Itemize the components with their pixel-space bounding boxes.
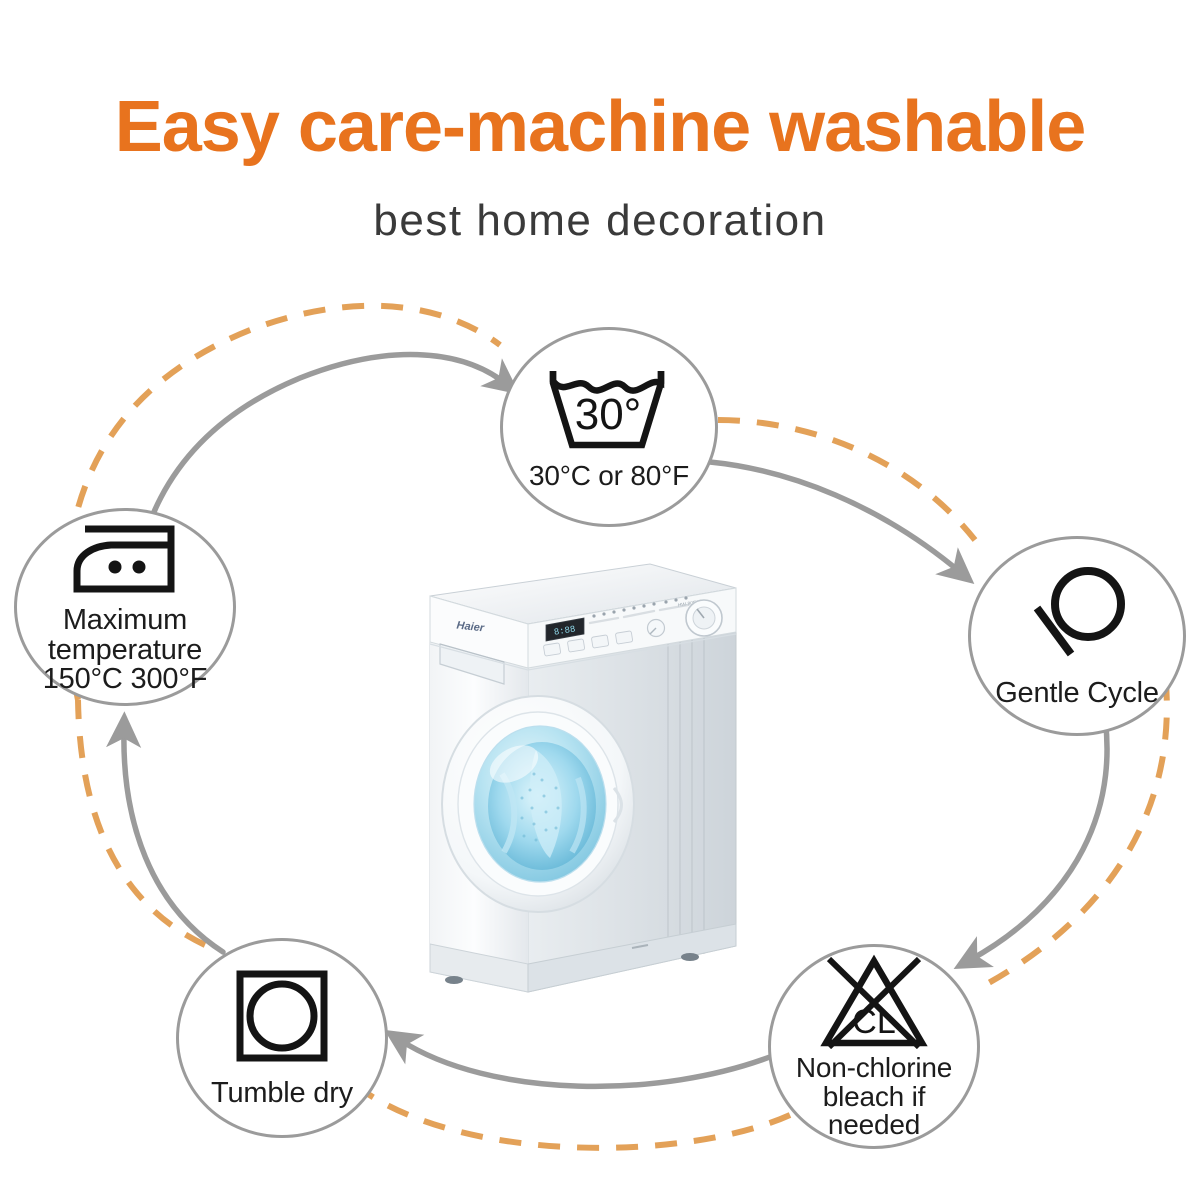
care-node-caption: Tumble dry	[211, 1079, 353, 1109]
washer-foot-left	[445, 976, 463, 984]
wash-tub-temperature-text: 30°	[575, 390, 642, 439]
care-node-iron-temperature[interactable]: Maximum temperature 150°C 300°F	[14, 508, 236, 706]
wash-tub-icon: 30°	[543, 363, 675, 460]
care-node-tumble-dry[interactable]: Tumble dry	[176, 938, 388, 1138]
iron-two-dots-icon	[59, 519, 191, 604]
gentle-cycle-icon	[1021, 564, 1133, 669]
care-node-non-chlorine-bleach[interactable]: CL Non-chlorine bleach if needed	[768, 944, 980, 1149]
care-node-caption: 30°C or 80°F	[529, 462, 689, 491]
washer-foot-right	[681, 953, 699, 961]
care-node-caption: Maximum temperature 150°C 300°F	[43, 606, 207, 695]
washing-machine-image: Haier HW-80F12 8:88	[418, 552, 748, 1022]
care-node-wash-temperature[interactable]: 30° 30°C or 80°F	[500, 327, 718, 527]
care-node-gentle-cycle[interactable]: Gentle Cycle	[968, 536, 1186, 736]
care-node-caption: Gentle Cycle	[995, 679, 1159, 709]
no-chlorine-bleach-icon: CL	[815, 953, 933, 1054]
care-node-caption: Non-chlorine bleach if needed	[796, 1054, 952, 1140]
tumble-dry-icon	[233, 968, 331, 1069]
